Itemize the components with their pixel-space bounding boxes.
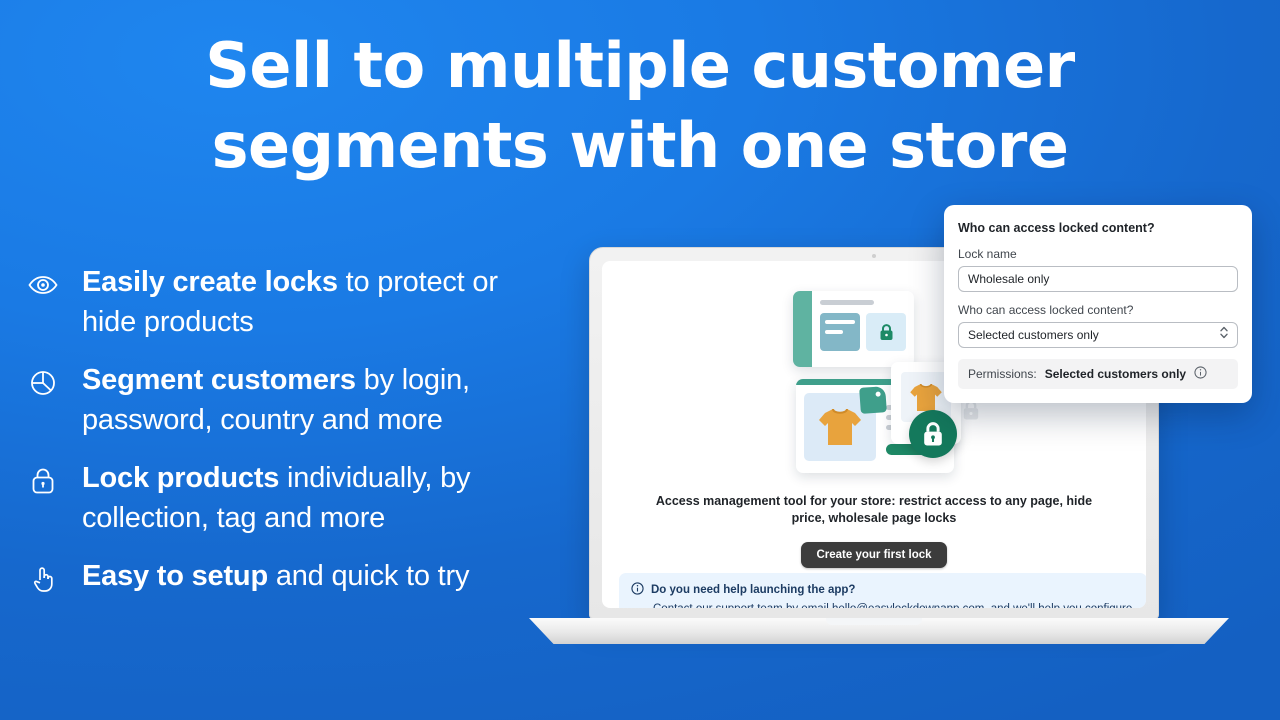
chevron-updown-icon[interactable]	[1219, 325, 1229, 346]
pie-chart-icon	[24, 360, 62, 400]
access-select[interactable]: Selected customers only	[958, 322, 1238, 348]
popover-title: Who can access locked content?	[958, 221, 1238, 235]
info-circle-icon[interactable]	[1194, 366, 1207, 382]
help-banner-title: Do you need help launching the app?	[651, 584, 855, 596]
permissions-row: Permissions: Selected customers only	[958, 359, 1238, 389]
page-title: Sell to multiple customer segments with …	[0, 26, 1280, 186]
laptop-base-notch	[826, 618, 922, 625]
promo-banner: Sell to multiple customer segments with …	[0, 0, 1280, 720]
help-banner-text-before: Contact our support team by email	[653, 603, 832, 608]
lock-icon	[879, 324, 894, 341]
headline-line-2: segments with one store	[110, 106, 1170, 186]
feature-item-easy-setup: Easy to setup and quick to try	[24, 556, 554, 596]
create-first-lock-button[interactable]: Create your first lock	[801, 542, 946, 568]
doc-row	[820, 313, 906, 351]
doc-sidebar	[793, 291, 812, 367]
lock-icon	[24, 458, 62, 498]
webcam-dot	[872, 254, 876, 258]
lock-name-label: Lock name	[958, 247, 1238, 261]
feature-bold: Segment customers	[82, 364, 356, 396]
doc-body	[812, 291, 914, 367]
permissions-value: Selected customers only	[1045, 367, 1186, 381]
price-tag-icon	[859, 386, 887, 414]
lock-name-input[interactable]	[958, 266, 1238, 292]
info-circle-icon	[631, 582, 644, 598]
feature-text: Easy to setup and quick to try	[82, 556, 469, 596]
feature-bold: Easy to setup	[82, 560, 268, 592]
doc-title-bar	[820, 300, 874, 305]
feature-item-segment-customers: Segment customers by login, password, co…	[24, 360, 554, 440]
doc-lock-tile	[866, 313, 906, 351]
tshirt-icon	[816, 405, 864, 449]
app-empty-state: Access management tool for your store: r…	[602, 493, 1146, 568]
feature-bold: Lock products	[82, 462, 279, 494]
access-select-wrapper: Selected customers only	[958, 322, 1238, 348]
illustration-document-card	[793, 291, 914, 367]
doc-line	[825, 330, 843, 334]
feature-text: Easily create locks to protect or hide p…	[82, 262, 554, 342]
app-tagline: Access management tool for your store: r…	[654, 493, 1094, 527]
doc-line	[825, 320, 855, 324]
feature-rest: and quick to try	[268, 560, 469, 592]
feature-item-lock-products: Lock products individually, by collectio…	[24, 458, 554, 538]
help-banner: Do you need help launching the app? Cont…	[619, 573, 1146, 608]
eye-icon	[24, 262, 62, 302]
tshirt-icon	[908, 381, 944, 414]
help-banner-body: Contact our support team by email hello@…	[653, 602, 1135, 608]
access-label: Who can access locked content?	[958, 303, 1238, 317]
ghost-lock-icon	[962, 400, 980, 426]
support-email-link[interactable]: hello@easylockdownapp.com	[832, 603, 984, 608]
pointing-hand-icon	[24, 556, 62, 596]
feature-text: Lock products individually, by collectio…	[82, 458, 554, 538]
feature-item-create-locks: Easily create locks to protect or hide p…	[24, 262, 554, 342]
doc-text-pane	[820, 313, 860, 351]
lock-settings-popover: Who can access locked content? Lock name…	[944, 205, 1252, 403]
help-banner-heading: Do you need help launching the app?	[631, 582, 1135, 598]
lock-badge-icon	[909, 410, 957, 458]
feature-text: Segment customers by login, password, co…	[82, 360, 554, 440]
feature-bold: Easily create locks	[82, 266, 338, 298]
permissions-label: Permissions:	[968, 367, 1037, 381]
feature-list: Easily create locks to protect or hide p…	[24, 262, 554, 596]
headline-line-1: Sell to multiple customer	[205, 29, 1075, 102]
